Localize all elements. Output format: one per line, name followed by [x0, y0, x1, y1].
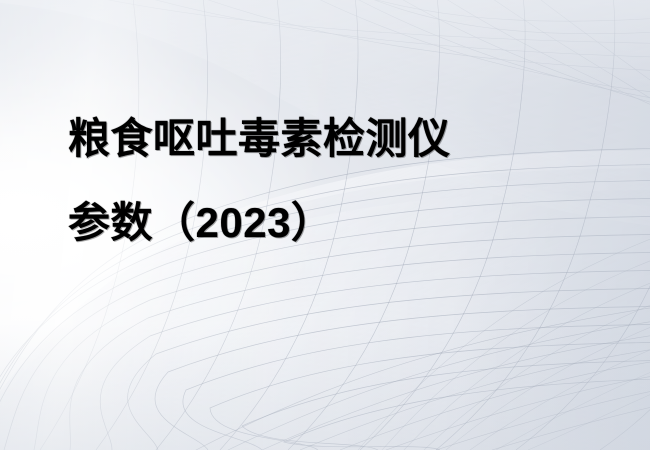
title-line-1: 粮食呕吐毒素检测仪	[68, 118, 598, 160]
banner-image: 粮食呕吐毒素检测仪 参数（2023）	[0, 0, 650, 450]
title-line-2: 参数（2023）	[68, 202, 598, 244]
title-block: 粮食呕吐毒素检测仪 参数（2023）	[68, 118, 598, 244]
